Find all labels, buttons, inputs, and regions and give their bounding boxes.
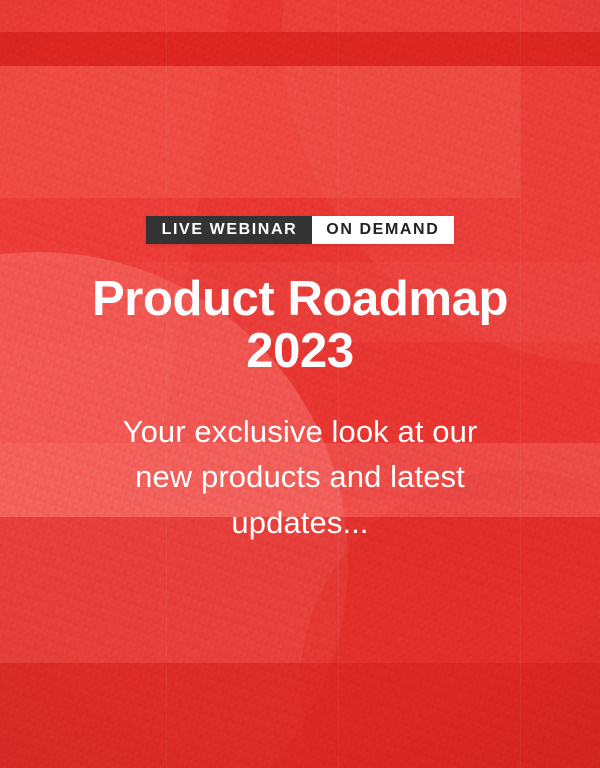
webinar-promo-banner: LIVE WEBINAR ON DEMAND Product Roadmap 2… bbox=[0, 0, 600, 768]
page-title-line-2: 2023 bbox=[246, 324, 353, 378]
page-title: Product Roadmap 2023 bbox=[92, 273, 508, 378]
status-badge: LIVE WEBINAR ON DEMAND bbox=[146, 216, 455, 244]
status-badge-live-webinar: LIVE WEBINAR bbox=[146, 216, 313, 244]
page-subtitle-line-1: Your exclusive look at our bbox=[123, 414, 478, 449]
page-subtitle-line-2: new products and latest bbox=[135, 459, 465, 494]
page-title-line-1: Product Roadmap bbox=[92, 272, 508, 326]
status-badge-on-demand: ON DEMAND bbox=[312, 216, 454, 244]
page-subtitle: Your exclusive look at our new products … bbox=[123, 409, 478, 546]
banner-content: LIVE WEBINAR ON DEMAND Product Roadmap 2… bbox=[0, 0, 600, 768]
page-subtitle-line-3: updates... bbox=[231, 505, 368, 540]
